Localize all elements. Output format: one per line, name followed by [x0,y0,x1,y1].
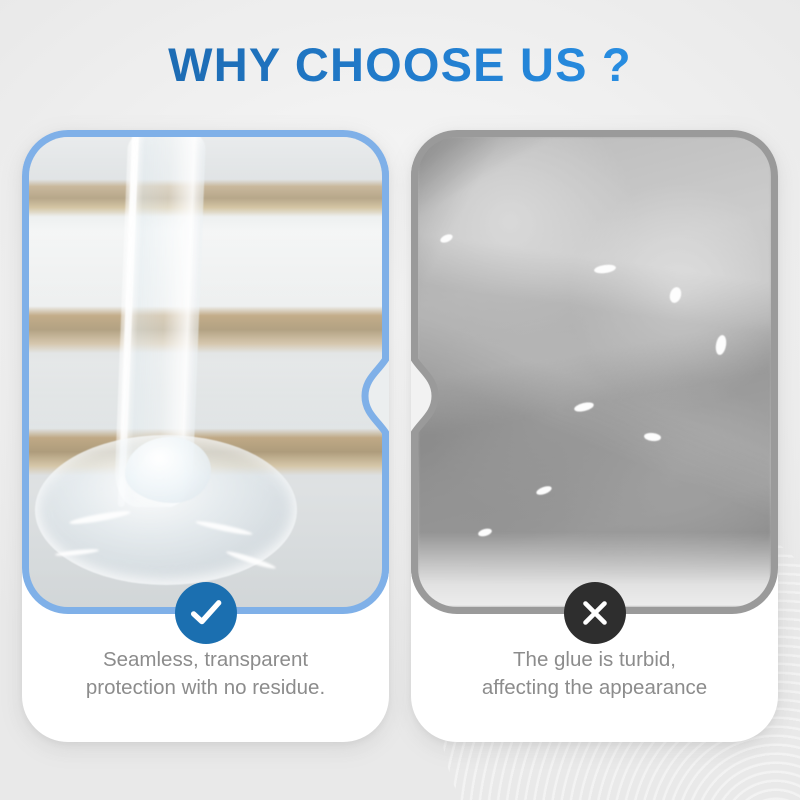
specular-highlight [513,586,536,601]
specular-highlight [644,432,662,442]
pro-badge [175,582,237,644]
pro-photo [29,137,382,607]
page-title: WHY CHOOSE US ? [0,36,800,94]
specular-highlight [668,286,683,304]
comparison-card-con[interactable]: The glue is turbid, affecting the appear… [411,130,778,742]
check-icon [187,594,225,632]
con-caption-line-2: affecting the appearance [425,674,764,702]
specular-highlight [663,588,676,599]
turbid-glue-image [418,137,771,607]
specular-highlight [594,264,617,275]
pro-caption: Seamless, transparent protection with no… [36,646,375,702]
specular-highlight [535,484,552,496]
specular-highlight [573,401,594,414]
comparison-card-pro[interactable]: Seamless, transparent protection with no… [22,130,389,742]
con-photo-frame [411,130,778,614]
close-icon [576,594,614,632]
pro-caption-line-1: Seamless, transparent [36,646,375,674]
con-photo [418,137,771,607]
pro-photo-frame [22,130,389,614]
con-caption: The glue is turbid, affecting the appear… [425,646,764,702]
pro-caption-line-2: protection with no residue. [36,674,375,702]
glue-blob-decoration [125,437,211,503]
clear-glue-image [29,137,382,607]
specular-highlight [439,233,454,245]
specular-highlight [477,527,492,538]
con-caption-line-1: The glue is turbid, [425,646,764,674]
comparison-section: Seamless, transparent protection with no… [22,130,778,742]
specular-highlight [714,334,727,355]
con-badge [564,582,626,644]
